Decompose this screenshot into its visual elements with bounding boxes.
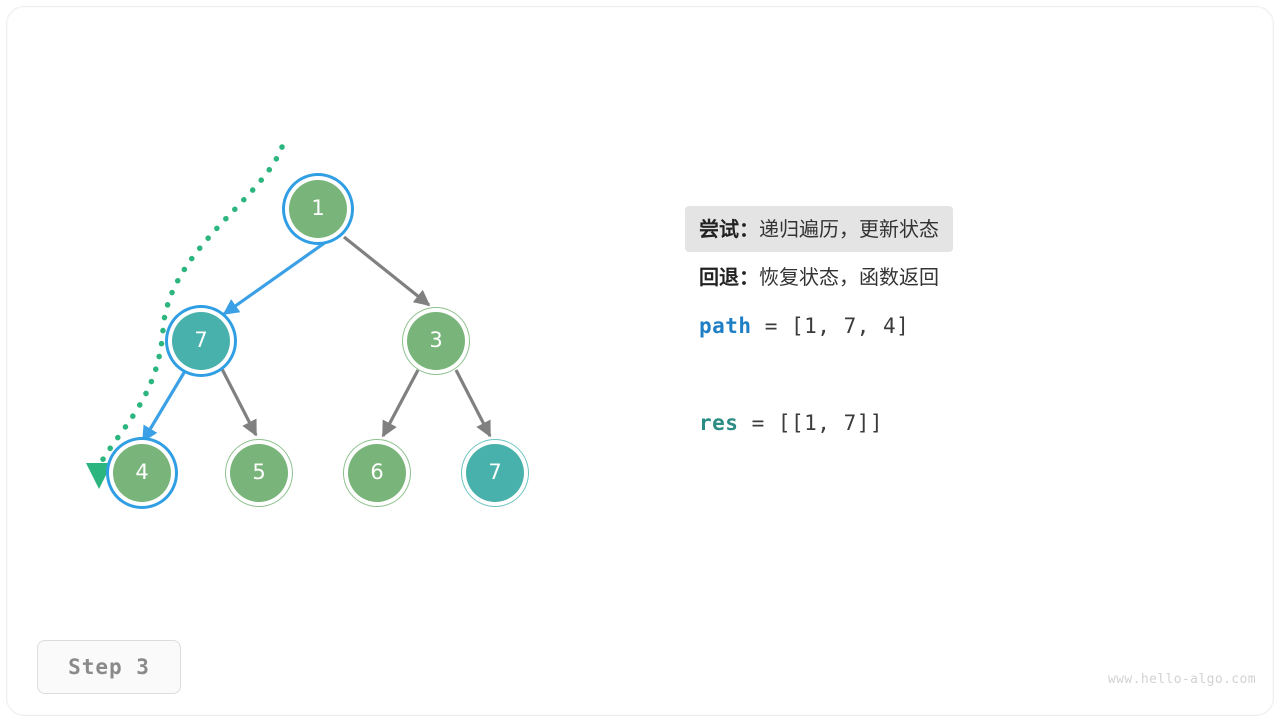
backtrack-line-text: 恢复状态，函数返回	[759, 265, 939, 289]
watermark: www.hello-algo.com	[1108, 672, 1256, 687]
tree-node-7-left-label: 7	[194, 330, 207, 351]
path-variable-value: = [1, 7, 4]	[752, 314, 910, 338]
tree-node-7-right-label: 7	[488, 462, 501, 483]
tree-node-1[interactable]: 1	[289, 180, 347, 238]
step-badge-label: Step 3	[68, 655, 150, 679]
backtrack-line-keyword: 回退：	[699, 265, 759, 289]
edge-n3-n7r	[456, 370, 490, 436]
tree-node-5-label: 5	[252, 462, 265, 483]
res-variable-value: = [[1, 7]]	[738, 411, 883, 435]
tree-node-5[interactable]: 5	[230, 444, 288, 502]
watermark-text: www.hello-algo.com	[1108, 672, 1256, 687]
backtrack-line: 回退：恢复状态，函数返回	[685, 254, 1205, 300]
edge-n7l-n5	[222, 369, 256, 435]
tree-node-7-left[interactable]: 7	[172, 312, 230, 370]
res-variable-name: res	[699, 411, 738, 435]
diagram-canvas: 1 7 3 4 5 6 7 尝试：递归遍历，更新状态 回退：恢复状态，函数返回 …	[0, 0, 1280, 720]
path-variable-name: path	[699, 314, 752, 338]
edge-n1-n7l	[224, 232, 340, 314]
tree-node-3[interactable]: 3	[407, 312, 465, 370]
tree-node-7-right[interactable]: 7	[466, 444, 524, 502]
try-line-keyword: 尝试：	[699, 217, 759, 241]
tree-node-3-label: 3	[429, 330, 442, 351]
edge-n1-n3	[344, 237, 429, 305]
step-badge: Step 3	[37, 640, 181, 694]
try-line-text: 递归遍历，更新状态	[759, 217, 939, 241]
annotation-panel: 尝试：递归遍历，更新状态 回退：恢复状态，函数返回 path = [1, 7, …	[685, 206, 1205, 448]
tree-node-4[interactable]: 4	[113, 444, 171, 502]
tree-node-4-label: 4	[135, 462, 148, 483]
panel-spacer	[685, 351, 1205, 399]
tree-node-1-label: 1	[311, 198, 324, 219]
path-variable-line: path = [1, 7, 4]	[685, 302, 1205, 351]
edge-n3-n6	[383, 370, 418, 436]
res-variable-line: res = [[1, 7]]	[685, 399, 1205, 448]
tree-node-6-label: 6	[370, 462, 383, 483]
try-line: 尝试：递归遍历，更新状态	[685, 206, 953, 252]
tree-node-6[interactable]: 6	[348, 444, 406, 502]
traversal-trace-arrowhead	[86, 463, 112, 489]
traversal-trace-path	[98, 147, 282, 468]
